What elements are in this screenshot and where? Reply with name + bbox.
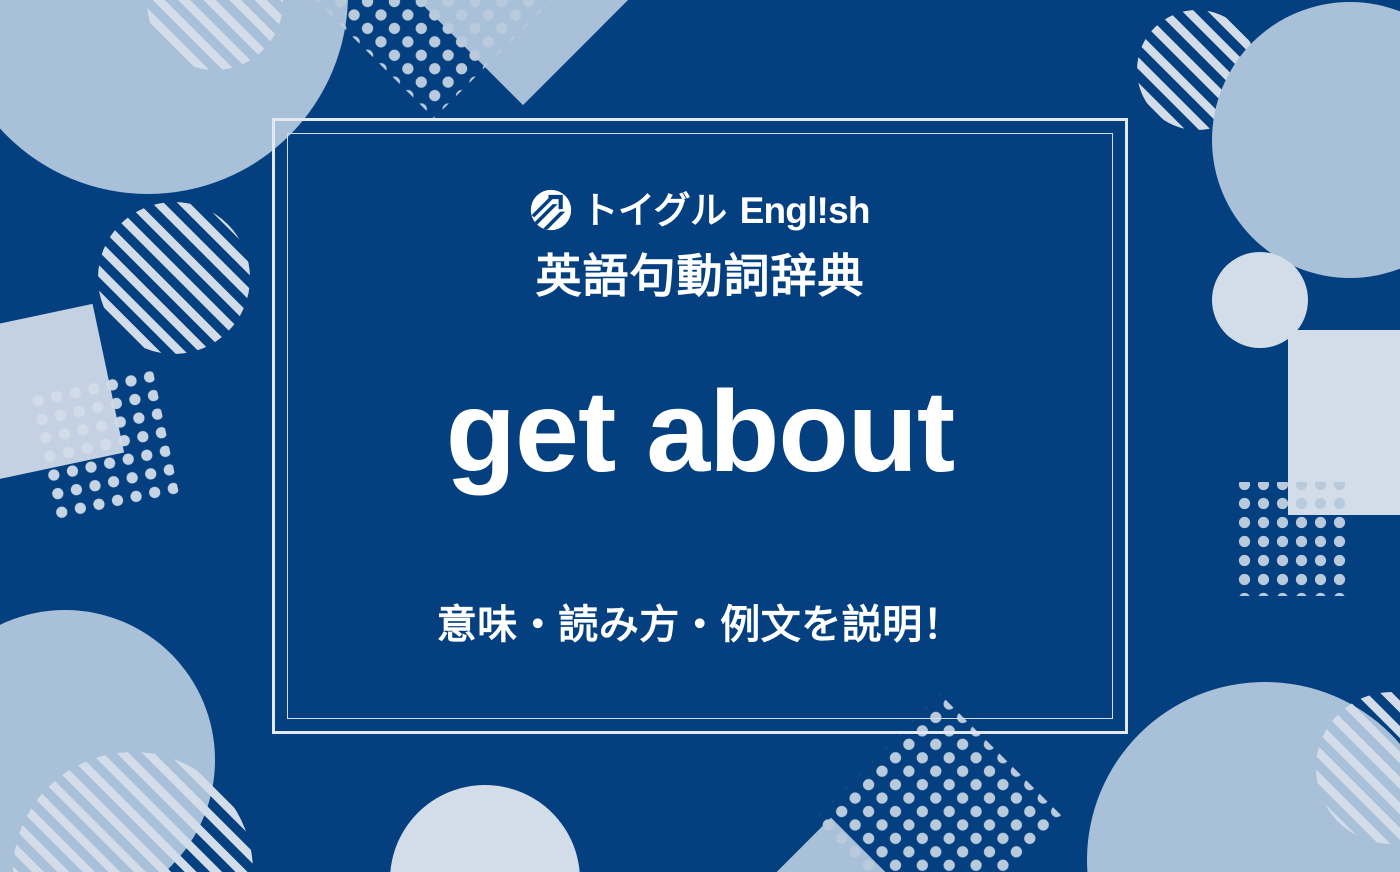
brand-name-kana: トイグル bbox=[581, 192, 726, 229]
series-title: 英語句動詞辞典 bbox=[536, 253, 865, 299]
circle-striped-left bbox=[98, 202, 250, 354]
toiguru-circle-arrows-icon bbox=[530, 189, 572, 231]
circle-pale-bottom-center bbox=[390, 785, 580, 872]
brand-lockup: トイグル Engl!sh bbox=[530, 187, 869, 233]
square-dotted-right-edge bbox=[1232, 482, 1346, 596]
headword-phrasal-verb: get about bbox=[446, 375, 954, 490]
tagline: 意味・読み方・例文を説明！ bbox=[437, 605, 964, 645]
poster-canvas: トイグル Engl!sh 英語句動詞辞典 get about 意味・読み方・例文… bbox=[0, 0, 1400, 872]
poster-content: トイグル Engl!sh 英語句動詞辞典 get about 意味・読み方・例文… bbox=[272, 118, 1128, 734]
brand-name-latin: Engl!sh bbox=[740, 192, 870, 229]
